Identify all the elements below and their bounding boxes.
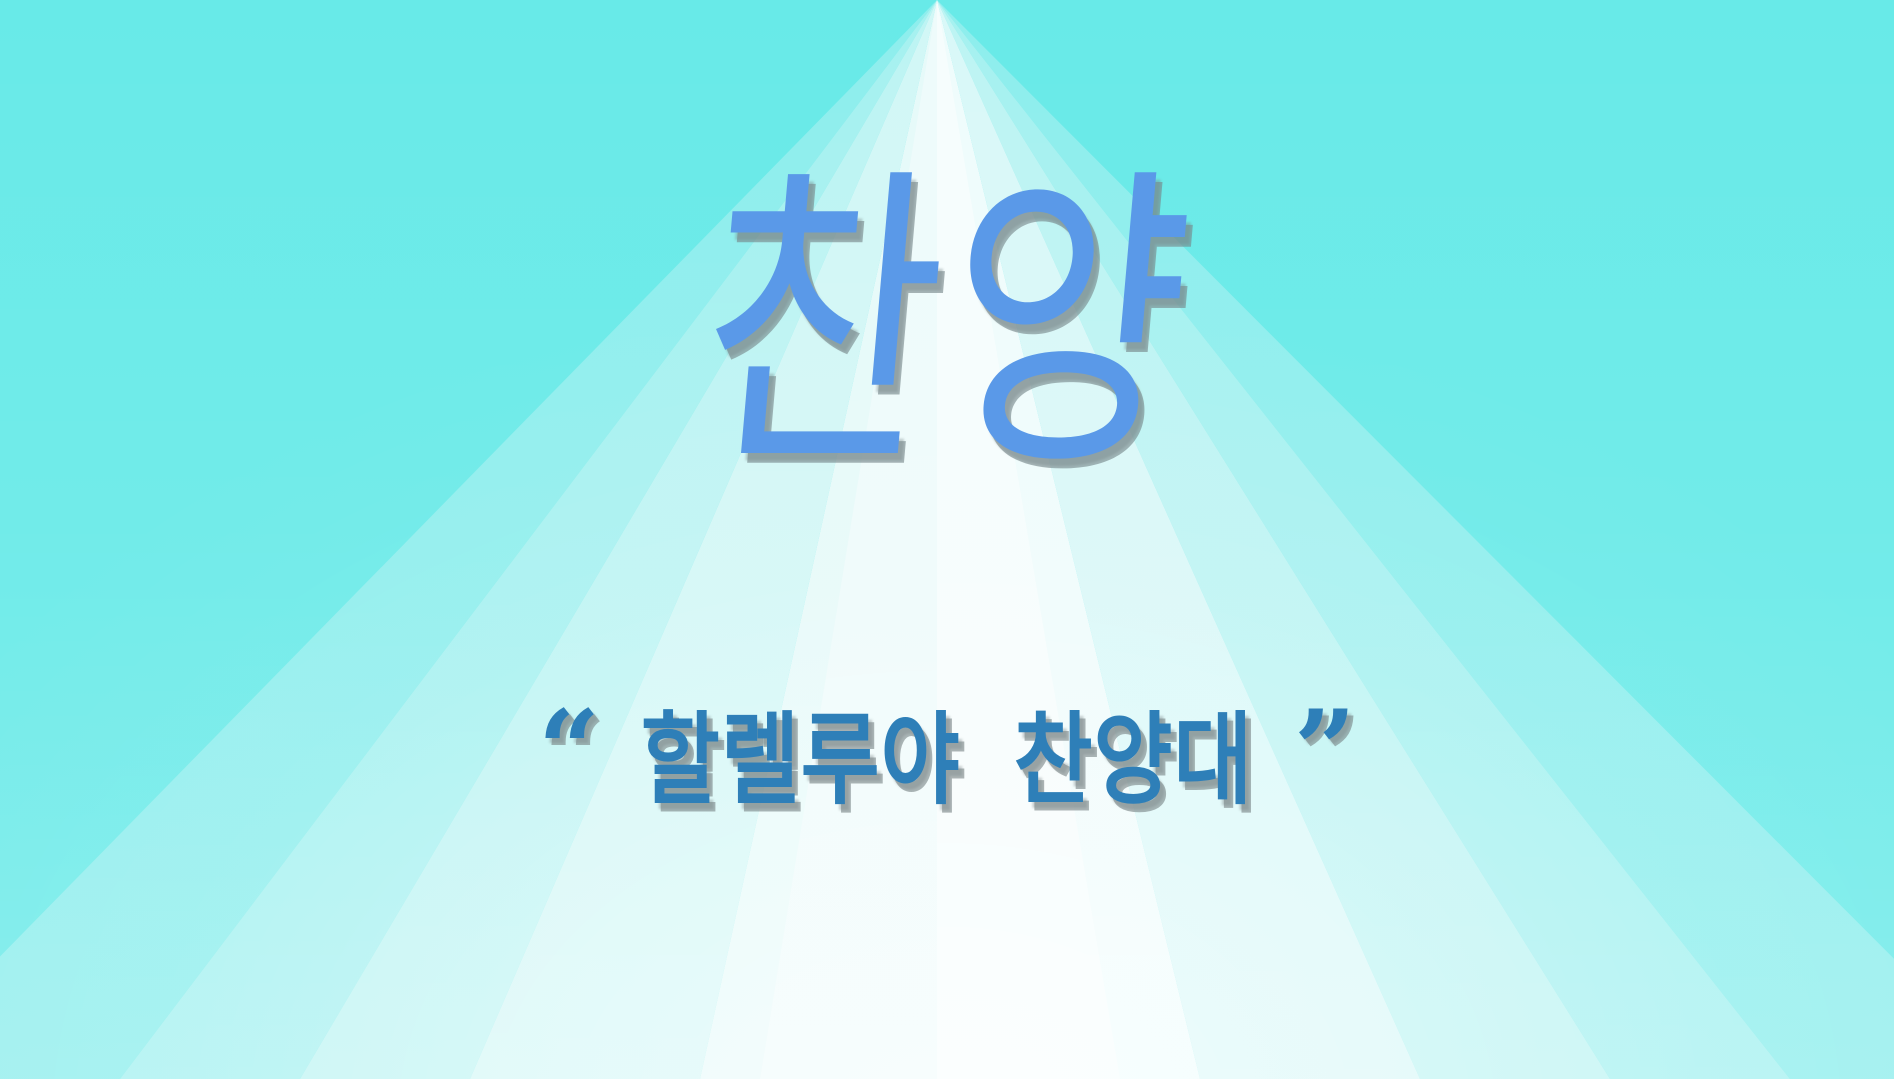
quote-close-icon: ” (1294, 713, 1356, 789)
subtitle-block: “ 할렐루야 찬양대 ” (0, 718, 1894, 804)
subtitle-line-1: 할렐루야 (641, 711, 961, 811)
slide-title: 찬양 (689, 167, 1206, 484)
title-slide: 찬양 “ 할렐루야 찬양대 ” (0, 0, 1894, 1079)
slide-content: 찬양 “ 할렐루야 찬양대 ” (0, 0, 1894, 1079)
subtitle-line-2: 찬양대 (1013, 711, 1253, 811)
title-block: 찬양 (0, 196, 1894, 456)
quote-open-icon: “ (538, 713, 600, 789)
